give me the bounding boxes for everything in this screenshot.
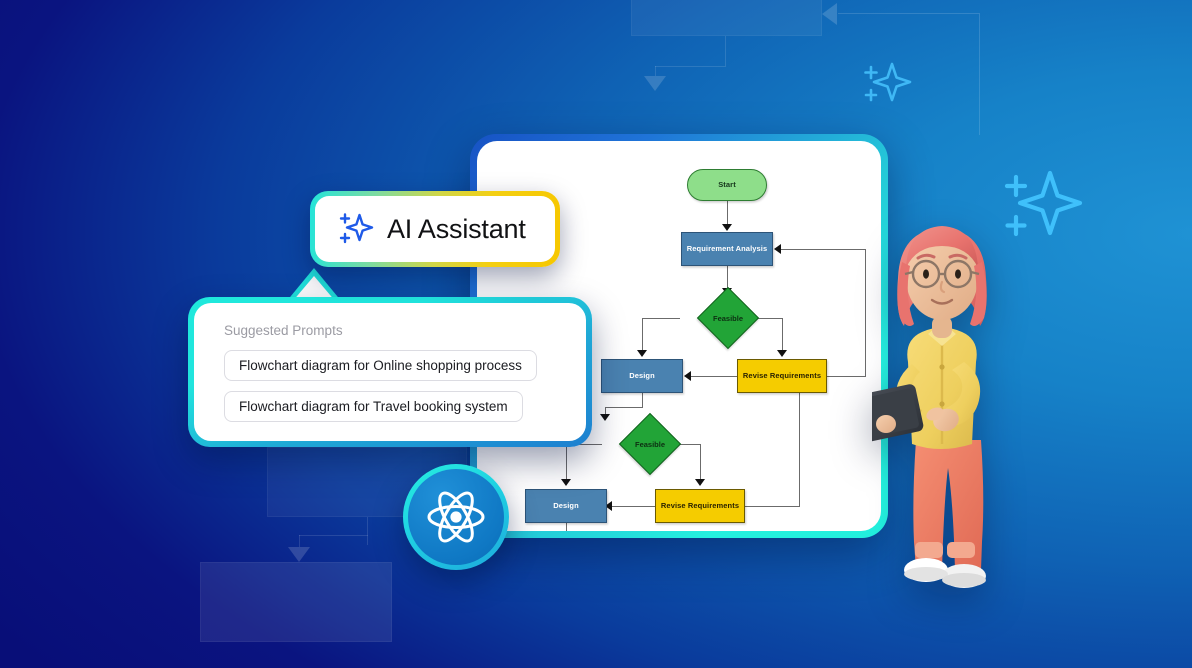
ai-assistant-label: AI Assistant xyxy=(387,214,526,245)
edge-revise1-design1 xyxy=(690,376,737,377)
edge-revise1-req-v xyxy=(865,249,866,377)
edge-feas2-design2-v xyxy=(566,444,567,480)
flow-node-start[interactable]: Start xyxy=(687,169,767,201)
bg-deco-line-2 xyxy=(655,66,726,67)
react-atom-icon xyxy=(425,486,487,548)
arrowhead-feas1-revise1 xyxy=(777,350,787,357)
prompt-chip-travel-booking[interactable]: Flowchart diagram for Travel booking sys… xyxy=(224,391,523,422)
edge-feas1-design1-h xyxy=(642,318,680,319)
bg-deco-line-1 xyxy=(725,36,726,66)
edge-feas2-revise2-v xyxy=(700,444,701,480)
flow-node-revise-requirements-1[interactable]: Revise Requirements xyxy=(737,359,827,393)
3d-character-illustration xyxy=(872,212,1012,592)
flow-node-label: Feasible xyxy=(619,422,681,466)
ai-assistant-badge[interactable]: AI Assistant xyxy=(310,191,560,267)
edge-revise1-req-h1 xyxy=(827,376,865,377)
edge-design2-testing-v1 xyxy=(566,523,567,531)
edge-design1-feas2-h xyxy=(605,407,643,408)
flow-node-design-1[interactable]: Design xyxy=(601,359,683,393)
flow-node-feasible-1[interactable]: Feasible xyxy=(697,296,759,340)
sparkle-icon-small xyxy=(858,56,916,114)
bg-deco-line-5 xyxy=(299,535,368,536)
edge-revise1-req-h2 xyxy=(781,249,866,250)
suggested-prompts-title: Suggested Prompts xyxy=(224,323,560,338)
edge-revise2-up-v xyxy=(799,377,800,507)
bg-deco-arrow-left-1 xyxy=(822,3,837,25)
edge-design1-feas2-v1 xyxy=(642,393,643,407)
bg-deco-arrow-down-1 xyxy=(644,76,666,91)
bg-deco-line-3 xyxy=(655,66,656,76)
arrowhead-start-req xyxy=(722,224,732,231)
edge-start-req xyxy=(727,201,728,225)
arrowhead-revise1-req xyxy=(774,244,781,254)
flow-node-design-2[interactable]: Design xyxy=(525,489,607,523)
flow-node-feasible-2[interactable]: Feasible xyxy=(619,422,681,466)
arrowhead-feas1-design1 xyxy=(637,350,647,357)
arrowhead-feas2-revise2 xyxy=(695,479,705,486)
arrowhead-design1-feas2 xyxy=(600,414,610,421)
arrowhead-feas2-design2 xyxy=(561,479,571,486)
prompt-chip-online-shopping[interactable]: Flowchart diagram for Online shopping pr… xyxy=(224,350,537,381)
flow-node-label: Feasible xyxy=(697,296,759,340)
hero-banner: Start Requirement Analysis Feasible Desi… xyxy=(0,0,1192,668)
bg-deco-line-4 xyxy=(367,517,368,545)
sparkle-icon xyxy=(337,210,375,248)
flow-node-revise-requirements-2[interactable]: Revise Requirements xyxy=(655,489,745,523)
bg-deco-frame xyxy=(838,13,980,135)
arrowhead-revise1-design1 xyxy=(684,371,691,381)
edge-feas1-design1-v xyxy=(642,318,643,351)
bg-deco-arrow-down-2 xyxy=(288,547,310,562)
bg-deco-box-top xyxy=(631,0,822,36)
edge-revise2-up-h xyxy=(745,506,799,507)
flow-node-requirement-analysis[interactable]: Requirement Analysis xyxy=(681,232,773,266)
bg-deco-line-6 xyxy=(299,535,300,547)
suggested-prompts-panel: Suggested Prompts Flowchart diagram for … xyxy=(188,297,592,447)
edge-feas1-revise1-v xyxy=(782,318,783,351)
bg-deco-box-bottom xyxy=(200,562,392,642)
react-logo-badge[interactable] xyxy=(403,464,509,570)
edge-revise2-design2 xyxy=(611,506,656,507)
